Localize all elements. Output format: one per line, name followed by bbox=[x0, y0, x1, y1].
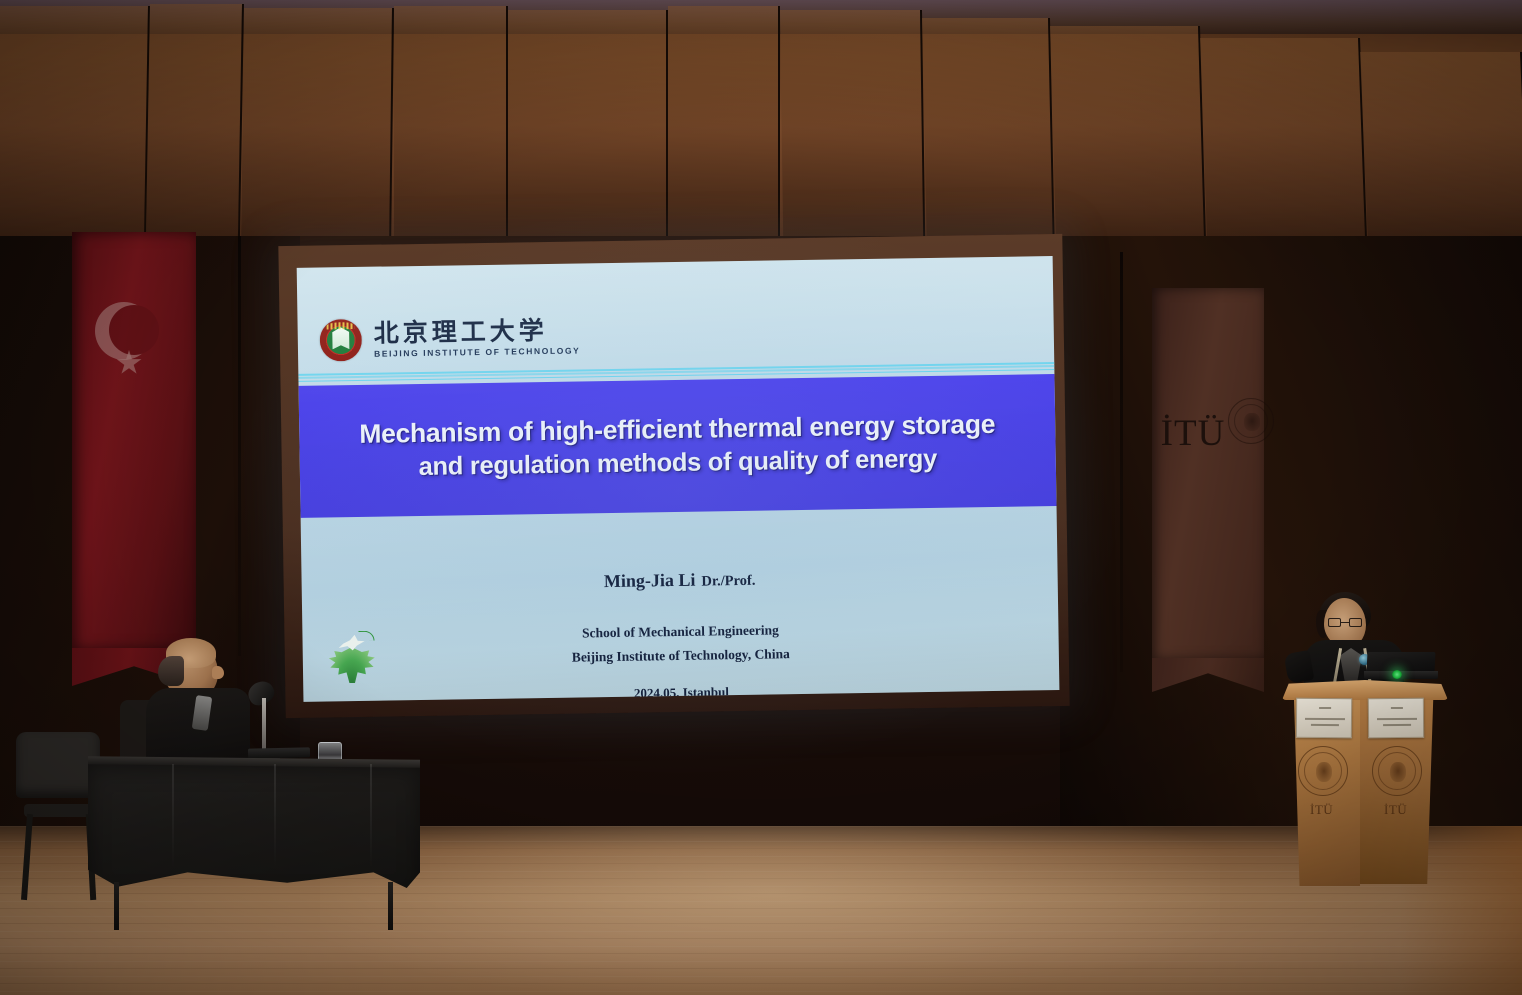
tree-fan-icon bbox=[329, 647, 376, 684]
author-row: Ming-Jia LiDr./Prof. bbox=[302, 564, 1058, 597]
tablet-on-table bbox=[248, 747, 310, 758]
istanbul-teknik-universitesi-seal-icon bbox=[1228, 398, 1274, 444]
istanbul-teknik-universitesi-seal-icon bbox=[1298, 746, 1348, 796]
draped-table bbox=[88, 758, 420, 908]
floor-spotlight bbox=[320, 826, 1220, 995]
ceiling-panel bbox=[394, 6, 508, 256]
table-leg bbox=[388, 882, 393, 930]
itu-banner-label: İTÜ bbox=[1152, 412, 1234, 455]
ceiling-wood-panels bbox=[0, 0, 1522, 262]
ceiling-panel bbox=[241, 8, 394, 256]
lectern-label-right: İTÜ bbox=[1384, 802, 1407, 818]
wooden-lectern: İTÜ İTÜ bbox=[1288, 676, 1440, 896]
slide-title-band: Mechanism of high-efficient thermal ener… bbox=[299, 374, 1057, 518]
ceiling-panel bbox=[1360, 52, 1522, 256]
ceiling-panel bbox=[780, 10, 925, 256]
turkish-flag-banner bbox=[72, 232, 196, 650]
lectern-label-left: İTÜ bbox=[1310, 802, 1333, 818]
ceiling-panel bbox=[668, 6, 780, 256]
org-name-chinese: 北京理工大学 bbox=[374, 317, 581, 345]
ceiling-panel bbox=[922, 18, 1055, 256]
cloth-fold bbox=[172, 764, 174, 868]
paper-sign-right bbox=[1368, 698, 1424, 738]
wall-seam bbox=[1120, 252, 1123, 672]
affiliation-block: School of Mechanical Engineering Beijing… bbox=[302, 614, 1059, 673]
projection-screen: 北京理工大学 BEIJING INSTITUTE OF TECHNOLOGY M… bbox=[278, 234, 1069, 718]
slide-title-line2: and regulation methods of quality of ene… bbox=[418, 443, 937, 485]
chair-leg bbox=[21, 814, 33, 900]
wall-seam bbox=[238, 236, 241, 656]
laptop-lid bbox=[1366, 652, 1435, 672]
green-tree-dove-icon bbox=[322, 631, 381, 684]
ceiling-panel bbox=[0, 6, 150, 256]
chairperson-profile bbox=[212, 666, 224, 679]
olive-sprig-icon bbox=[358, 631, 374, 641]
organization-logo: 北京理工大学 BEIJING INSTITUTE OF TECHNOLOGY bbox=[319, 315, 580, 361]
author-title: Dr./Prof. bbox=[701, 573, 755, 590]
ceiling-panel bbox=[508, 10, 668, 256]
istanbul-teknik-universitesi-seal-icon bbox=[1372, 746, 1422, 796]
cloth-fold bbox=[370, 764, 372, 868]
paper-sign-left bbox=[1296, 698, 1352, 738]
ceiling-panel bbox=[1200, 38, 1368, 256]
table-leg bbox=[114, 882, 119, 930]
eyeglasses-icon bbox=[1328, 618, 1362, 627]
ceiling-panel bbox=[146, 4, 244, 256]
bit-shield-emblem-icon bbox=[319, 319, 362, 362]
auditorium-scene: İTÜ 北京理工大学 BEIJING INSTITUTE OF TECHNOLO… bbox=[0, 0, 1522, 995]
cloth-fold bbox=[274, 764, 276, 868]
crescent-icon bbox=[95, 302, 153, 360]
author-name: Ming-Jia Li bbox=[604, 570, 696, 591]
org-name-english: BEIJING INSTITUTE OF TECHNOLOGY bbox=[374, 345, 581, 358]
itu-banner bbox=[1152, 288, 1264, 660]
chairperson-hair bbox=[158, 656, 184, 686]
ceiling-panel bbox=[1050, 26, 1206, 256]
presentation-slide: 北京理工大学 BEIJING INSTITUTE OF TECHNOLOGY M… bbox=[297, 256, 1060, 702]
